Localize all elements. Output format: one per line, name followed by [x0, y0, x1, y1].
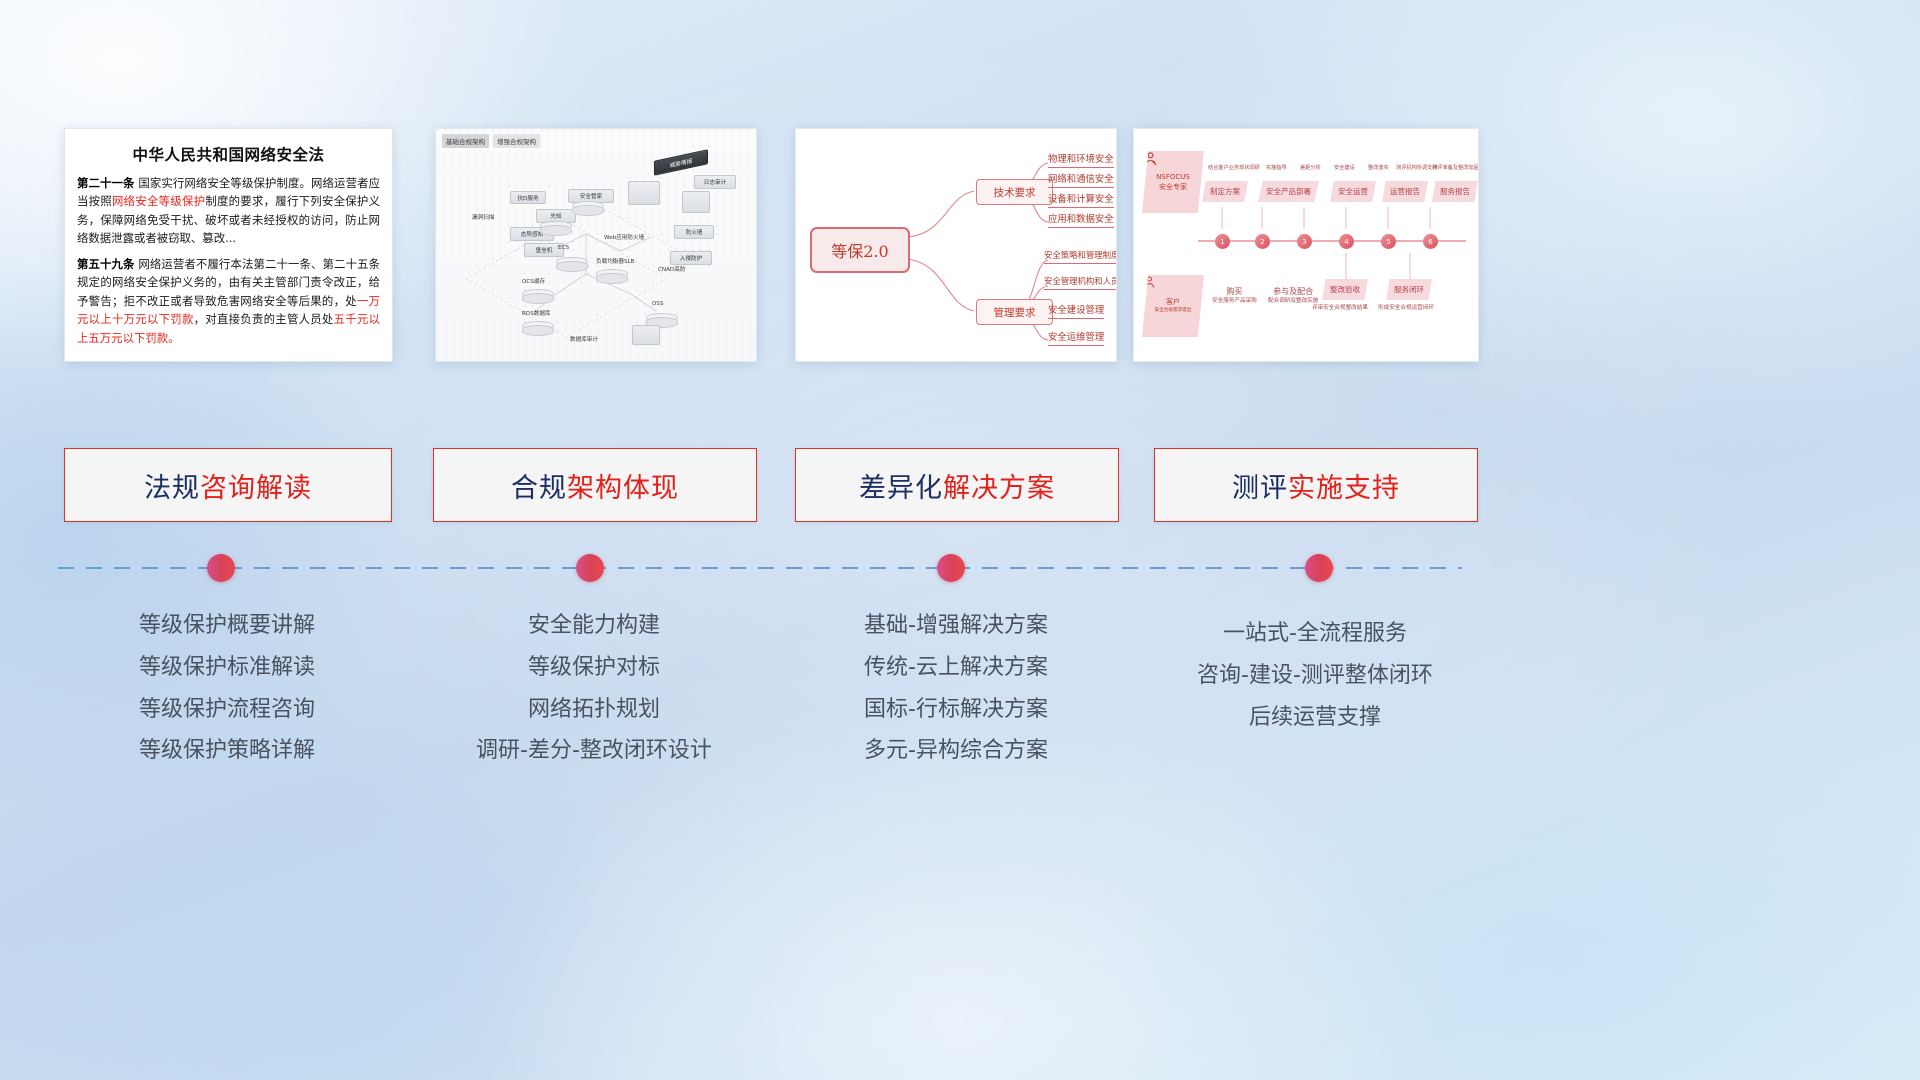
arch-node-vuln-scan: 漏洞扫描 — [472, 213, 494, 221]
header-3-part-b: 解决方案 — [943, 473, 1055, 504]
nsfocus-role: 安全专家 — [1159, 183, 1187, 192]
arch-node-cnad: CNAD高防 — [658, 265, 685, 273]
nsfocus-brand: NSFOCUS — [1156, 173, 1190, 182]
list-item: 等级保护概要讲解 — [64, 605, 390, 647]
arch-node-ips: 入侵防护 — [670, 251, 712, 265]
timeline-dot-3[interactable] — [937, 554, 965, 582]
nsfocus-tag-service: 服务报告 — [1432, 181, 1478, 202]
timeline-dot-4[interactable] — [1305, 554, 1333, 582]
nsfocus-tag-report: 运营报告 — [1382, 181, 1428, 202]
nsfocus-step-4: 安全建设 — [1334, 164, 1355, 171]
nsfocus-foot-3-tag: 整改验收 — [1322, 279, 1368, 300]
nsfocus-foot-2-sub: 配合调研及整改实施 — [1268, 298, 1318, 306]
nsfocus-customer-badge: 客户 安全合规需求提出 — [1142, 275, 1204, 337]
nsfocus-node-6: 6 — [1423, 234, 1438, 249]
header-box-regulation-consulting[interactable]: 法规咨询解读 — [64, 448, 392, 522]
law-title: 中华人民共和国网络安全法 — [77, 143, 380, 165]
header-box-differentiated-solution[interactable]: 差异化解决方案 — [795, 448, 1119, 522]
law-article-21-label: 第二十一条 — [77, 176, 135, 190]
arch-connector-lines — [436, 129, 756, 361]
nsfocus-node-1: 1 — [1215, 234, 1230, 249]
nsfocus-foot-2: 参与及配合 配合调研及整改实施 — [1268, 287, 1318, 305]
arch-node-firewall: 防火墙 — [674, 225, 714, 239]
list-item: 等级保护流程咨询 — [64, 689, 390, 731]
screenshot-cards: 中华人民共和国网络安全法 第二十一条 国家实行网络安全等级保护制度。网络运营者应… — [0, 0, 1920, 360]
timeline-dashed-line — [58, 567, 1462, 569]
card-cybersecurity-law[interactable]: 中华人民共和国网络安全法 第二十一条 国家实行网络安全等级保护制度。网络运营者应… — [64, 128, 393, 362]
nsfocus-step-2: 实施指导 — [1266, 164, 1287, 171]
list-item: 传统-云上解决方案 — [795, 647, 1117, 689]
bullet-column-1: 等级保护概要讲解 等级保护标准解读 等级保护流程咨询 等级保护策略详解 — [64, 605, 390, 772]
card-nsfocus-service-timeline[interactable]: NSFOCUS 安全专家 结合客户业务现状调研 实施指导 差距分析 安全建设 整… — [1133, 128, 1479, 362]
nsfocus-node-3: 3 — [1297, 234, 1312, 249]
nsfocus-expert-badge: NSFOCUS 安全专家 — [1142, 151, 1204, 213]
nsfocus-foot-1-title: 购买 — [1212, 287, 1257, 298]
nsfocus-foot-1: 购买 安全服务产品采购 — [1212, 287, 1257, 305]
list-item: 咨询-建设-测评整体闭环 — [1154, 655, 1476, 697]
list-item: 等级保护对标 — [433, 647, 755, 689]
arch-node-waf: Web应用防火墙 — [604, 233, 644, 241]
law-article-21-highlight: 网络安全等级保护 — [112, 194, 205, 208]
nsfocus-foot-4-tag: 服务闭环 — [1386, 279, 1432, 300]
card-mindmap-dengbao[interactable]: 等保2.0 技术要求 管理要求 物理和环境安全 网络和通信安全 设备和计算安全 … — [795, 128, 1117, 362]
header-box-evaluation-support[interactable]: 测评实施支持 — [1154, 448, 1478, 522]
arch-node-ecs: ECS — [558, 245, 569, 251]
mindmap-item-ops: 安全运维管理 — [1048, 329, 1104, 346]
law-article-59: 第五十九条 网络运营者不履行本法第二十一条、第二十五条规定的网络安全保护义务的，… — [77, 255, 380, 347]
nsfocus-customer-label: 客户 — [1166, 298, 1180, 307]
list-item: 等级保护策略详解 — [64, 730, 390, 772]
law-article-21: 第二十一条 国家实行网络安全等级保护制度。网络运营者应当按照网络安全等级保护制度… — [77, 174, 380, 248]
timeline-dot-1[interactable] — [207, 554, 235, 582]
nsfocus-foot-1-sub: 安全服务产品采购 — [1212, 298, 1257, 306]
list-item: 多元-异构综合方案 — [795, 730, 1117, 772]
arch-node-anti-ddos: 抗D服务 — [510, 191, 546, 204]
list-item: 基础-增强解决方案 — [795, 605, 1117, 647]
arch-node-ocs: OCS缓存 — [522, 277, 545, 285]
nsfocus-node-2: 2 — [1255, 234, 1270, 249]
header-3-part-a: 差异化 — [859, 473, 943, 504]
bullet-column-2: 安全能力构建 等级保护对标 网络拓扑规划 调研-差分-整改闭环设计 — [433, 605, 755, 772]
arch-tab-enhanced[interactable]: 增强合规架构 — [493, 134, 540, 148]
list-item: 后续运营支撑 — [1154, 697, 1476, 739]
header-2-part-a: 合规 — [511, 473, 567, 504]
nsfocus-foot-3-sub: 评审安全合规整改结果 — [1312, 305, 1368, 313]
list-item: 调研-差分-整改闭环设计 — [433, 730, 755, 772]
card-compliance-architecture[interactable]: 基础合规架构 增强合规架构 威胁情报 安全管家 — [435, 128, 757, 362]
nsfocus-step-1: 结合客户业务现状调研 — [1208, 164, 1260, 171]
law-article-59-label: 第五十九条 — [77, 257, 135, 271]
mindmap-branch-technical: 技术要求 — [976, 179, 1053, 205]
timeline-dot-2[interactable] — [576, 554, 604, 582]
arch-node-db-audit: 数据库审计 — [570, 335, 598, 343]
list-item: 等级保护标准解读 — [64, 647, 390, 689]
mindmap-item-device: 设备和计算安全 — [1048, 191, 1114, 208]
arch-node-rds: RDS数据库 — [522, 309, 551, 317]
nsfocus-tag-operate: 安全运营 — [1330, 181, 1376, 202]
arch-icon-server-block — [628, 181, 660, 205]
mindmap-root: 等保2.0 — [810, 227, 910, 273]
nsfocus-foot-4-sub: 形成安全合规运营闭环 — [1378, 305, 1434, 313]
mindmap-item-policy: 安全策略和管理制度 — [1044, 249, 1117, 264]
bullet-column-4: 一站式-全流程服务 咨询-建设-测评整体闭环 后续运营支撑 — [1154, 605, 1476, 738]
nsfocus-step-5: 整改落实 — [1368, 164, 1389, 171]
arch-node-oss: OSS — [652, 301, 664, 307]
nsfocus-tag-plan: 制定方案 — [1202, 181, 1248, 202]
header-1-part-a: 法规 — [144, 473, 200, 504]
list-item: 一站式-全流程服务 — [1154, 613, 1476, 655]
mindmap-item-application: 应用和数据安全 — [1048, 211, 1114, 228]
nsfocus-node-5: 5 — [1381, 234, 1396, 249]
bullet-column-3: 基础-增强解决方案 传统-云上解决方案 国标-行标解决方案 多元-异构综合方案 — [795, 605, 1117, 772]
header-1-part-b: 咨询解读 — [200, 473, 312, 504]
arch-tab-group[interactable]: 基础合规架构 增强合规架构 — [442, 134, 540, 148]
mindmap-item-construction: 安全建设管理 — [1048, 302, 1104, 319]
list-item: 国标-行标解决方案 — [795, 689, 1117, 731]
header-4-part-a: 测评 — [1232, 473, 1288, 504]
nsfocus-step-7: 测评准备及整改加固指导 — [1432, 164, 1479, 171]
nsfocus-step-3: 差距分析 — [1300, 164, 1321, 171]
mindmap-item-network: 网络和通信安全 — [1048, 171, 1114, 188]
nsfocus-node-4: 4 — [1339, 234, 1354, 249]
law-article-59-text2: ，对直接负责的主管人员处 — [194, 312, 334, 326]
header-4-part-b: 实施支持 — [1288, 473, 1400, 504]
arch-icon-device-block — [682, 191, 710, 213]
arch-icon-vpc-block — [632, 325, 660, 345]
nsfocus-foot-2-title: 参与及配合 — [1268, 287, 1318, 298]
nsfocus-tag-deploy: 安全产品部署 — [1258, 181, 1319, 202]
nsfocus-customer-sub: 安全合规需求提出 — [1155, 308, 1192, 314]
mindmap-branch-management: 管理要求 — [976, 299, 1053, 325]
arch-node-slb: 负载均衡器SLB — [596, 257, 634, 265]
mindmap-item-org: 安全管理机构和人员 — [1044, 275, 1117, 290]
arch-tab-basic[interactable]: 基础合规架构 — [442, 134, 489, 148]
list-item: 安全能力构建 — [433, 605, 755, 647]
header-box-compliance-architecture[interactable]: 合规架构体现 — [433, 448, 757, 522]
arch-node-log-audit: 日志审计 — [694, 175, 736, 189]
mindmap-item-physical: 物理和环境安全 — [1048, 151, 1114, 168]
list-item: 网络拓扑规划 — [433, 689, 755, 731]
header-2-part-b: 架构体现 — [567, 473, 679, 504]
